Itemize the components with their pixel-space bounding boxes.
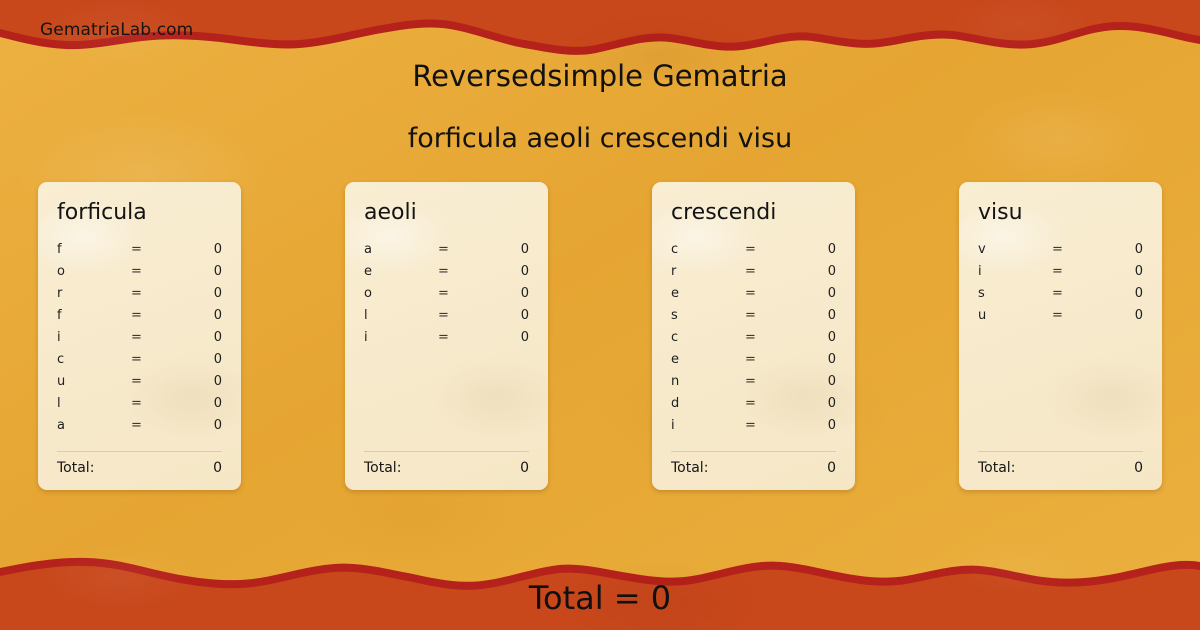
equals-sign: = bbox=[131, 286, 175, 301]
equals-sign: = bbox=[131, 308, 175, 323]
letter-char: c bbox=[671, 330, 745, 345]
equals-sign: = bbox=[745, 418, 789, 433]
letter-row: i = 0 bbox=[364, 330, 529, 352]
letter-char: d bbox=[671, 396, 745, 411]
letter-row: r = 0 bbox=[57, 286, 222, 308]
letter-row: o = 0 bbox=[364, 286, 529, 308]
letter-char: n bbox=[671, 374, 745, 389]
card-total-row: Total: 0 bbox=[978, 460, 1143, 476]
word-card: forficula f = 0 o = 0 r = 0 f bbox=[38, 182, 241, 490]
letter-value: 0 bbox=[789, 396, 836, 411]
equals-sign: = bbox=[438, 330, 482, 345]
card-total-value: 0 bbox=[520, 460, 529, 476]
letter-char: e bbox=[671, 352, 745, 367]
letter-char: e bbox=[364, 264, 438, 279]
letter-char: i bbox=[364, 330, 438, 345]
letter-value: 0 bbox=[175, 308, 222, 323]
equals-sign: = bbox=[745, 308, 789, 323]
equals-sign: = bbox=[745, 242, 789, 257]
letter-char: c bbox=[671, 242, 745, 257]
word-card-title: visu bbox=[978, 200, 1143, 225]
letter-value: 0 bbox=[175, 330, 222, 345]
equals-sign: = bbox=[438, 264, 482, 279]
letter-value: 0 bbox=[1096, 242, 1143, 257]
card-total-label: Total: bbox=[978, 460, 1015, 476]
word-card-title: crescendi bbox=[671, 200, 836, 225]
card-total-value: 0 bbox=[827, 460, 836, 476]
letter-row: u = 0 bbox=[57, 374, 222, 396]
letter-row: l = 0 bbox=[57, 396, 222, 418]
letter-row: a = 0 bbox=[364, 242, 529, 264]
equals-sign: = bbox=[1052, 264, 1096, 279]
letter-row: c = 0 bbox=[57, 352, 222, 374]
equals-sign: = bbox=[131, 374, 175, 389]
letter-row: i = 0 bbox=[978, 264, 1143, 286]
letter-row: s = 0 bbox=[978, 286, 1143, 308]
equals-sign: = bbox=[1052, 308, 1096, 323]
word-card-title: aeoli bbox=[364, 200, 529, 225]
card-divider bbox=[671, 451, 836, 452]
letter-char: f bbox=[57, 308, 131, 323]
letter-value-list: v = 0 i = 0 s = 0 u = 0 bbox=[978, 242, 1143, 451]
letter-row: c = 0 bbox=[671, 242, 836, 264]
card-total-label: Total: bbox=[57, 460, 94, 476]
letter-char: f bbox=[57, 242, 131, 257]
letter-value: 0 bbox=[482, 286, 529, 301]
site-brand[interactable]: GematriaLab.com bbox=[40, 20, 193, 40]
letter-row: f = 0 bbox=[57, 242, 222, 264]
letter-char: r bbox=[57, 286, 131, 301]
equals-sign: = bbox=[1052, 242, 1096, 257]
letter-value: 0 bbox=[175, 352, 222, 367]
letter-char: i bbox=[671, 418, 745, 433]
letter-char: s bbox=[978, 286, 1052, 301]
letter-value: 0 bbox=[482, 264, 529, 279]
letter-row: u = 0 bbox=[978, 308, 1143, 330]
equals-sign: = bbox=[745, 264, 789, 279]
equals-sign: = bbox=[438, 242, 482, 257]
card-total-label: Total: bbox=[364, 460, 401, 476]
letter-row: f = 0 bbox=[57, 308, 222, 330]
letter-value: 0 bbox=[1096, 286, 1143, 301]
letter-value: 0 bbox=[175, 242, 222, 257]
word-card: visu v = 0 i = 0 s = 0 u bbox=[959, 182, 1162, 490]
letter-value: 0 bbox=[482, 242, 529, 257]
page-title: Reversedsimple Gematria bbox=[0, 59, 1200, 93]
card-total-row: Total: 0 bbox=[57, 460, 222, 476]
letter-value: 0 bbox=[789, 374, 836, 389]
equals-sign: = bbox=[131, 418, 175, 433]
letter-row: d = 0 bbox=[671, 396, 836, 418]
letter-row: e = 0 bbox=[671, 352, 836, 374]
equals-sign: = bbox=[131, 264, 175, 279]
equals-sign: = bbox=[131, 242, 175, 257]
equals-sign: = bbox=[745, 374, 789, 389]
letter-char: l bbox=[57, 396, 131, 411]
card-total-row: Total: 0 bbox=[671, 460, 836, 476]
word-cards-row: forficula f = 0 o = 0 r = 0 f bbox=[38, 182, 1162, 490]
letter-value: 0 bbox=[175, 286, 222, 301]
letter-value-list: a = 0 e = 0 o = 0 l = 0 bbox=[364, 242, 529, 451]
card-total-label: Total: bbox=[671, 460, 708, 476]
letter-value: 0 bbox=[175, 264, 222, 279]
letter-row: r = 0 bbox=[671, 264, 836, 286]
equals-sign: = bbox=[745, 286, 789, 301]
card-divider bbox=[57, 451, 222, 452]
card-total-row: Total: 0 bbox=[364, 460, 529, 476]
equals-sign: = bbox=[131, 330, 175, 345]
word-card: aeoli a = 0 e = 0 o = 0 l bbox=[345, 182, 548, 490]
equals-sign: = bbox=[745, 352, 789, 367]
letter-row: s = 0 bbox=[671, 308, 836, 330]
letter-value: 0 bbox=[1096, 264, 1143, 279]
letter-char: u bbox=[978, 308, 1052, 323]
letter-value-list: c = 0 r = 0 e = 0 s = 0 bbox=[671, 242, 836, 451]
letter-row: o = 0 bbox=[57, 264, 222, 286]
letter-row: i = 0 bbox=[671, 418, 836, 440]
letter-char: i bbox=[978, 264, 1052, 279]
equals-sign: = bbox=[438, 308, 482, 323]
equals-sign: = bbox=[131, 352, 175, 367]
letter-char: i bbox=[57, 330, 131, 345]
equals-sign: = bbox=[438, 286, 482, 301]
grand-total: Total = 0 bbox=[0, 579, 1200, 617]
letter-value: 0 bbox=[789, 264, 836, 279]
letter-value: 0 bbox=[175, 418, 222, 433]
letter-value: 0 bbox=[482, 330, 529, 345]
letter-value: 0 bbox=[482, 308, 529, 323]
letter-char: u bbox=[57, 374, 131, 389]
equals-sign: = bbox=[745, 396, 789, 411]
letter-char: o bbox=[364, 286, 438, 301]
letter-value: 0 bbox=[175, 374, 222, 389]
letter-row: n = 0 bbox=[671, 374, 836, 396]
letter-value: 0 bbox=[1096, 308, 1143, 323]
word-card: crescendi c = 0 r = 0 e = 0 s bbox=[652, 182, 855, 490]
letter-row: l = 0 bbox=[364, 308, 529, 330]
letter-row: a = 0 bbox=[57, 418, 222, 440]
letter-row: i = 0 bbox=[57, 330, 222, 352]
equals-sign: = bbox=[1052, 286, 1096, 301]
letter-value: 0 bbox=[789, 286, 836, 301]
card-total-value: 0 bbox=[213, 460, 222, 476]
letter-value: 0 bbox=[789, 418, 836, 433]
letter-value: 0 bbox=[175, 396, 222, 411]
letter-char: v bbox=[978, 242, 1052, 257]
letter-row: e = 0 bbox=[364, 264, 529, 286]
letter-char: l bbox=[364, 308, 438, 323]
letter-value-list: f = 0 o = 0 r = 0 f = 0 bbox=[57, 242, 222, 451]
letter-row: v = 0 bbox=[978, 242, 1143, 264]
letter-char: e bbox=[671, 286, 745, 301]
letter-value: 0 bbox=[789, 242, 836, 257]
card-total-value: 0 bbox=[1134, 460, 1143, 476]
letter-char: c bbox=[57, 352, 131, 367]
letter-value: 0 bbox=[789, 352, 836, 367]
letter-value: 0 bbox=[789, 308, 836, 323]
letter-char: a bbox=[364, 242, 438, 257]
letter-char: s bbox=[671, 308, 745, 323]
equals-sign: = bbox=[131, 396, 175, 411]
word-card-title: forficula bbox=[57, 200, 222, 225]
page-canvas: GematriaLab.com Reversedsimple Gematria … bbox=[0, 0, 1200, 630]
letter-char: a bbox=[57, 418, 131, 433]
page-subtitle: forficula aeoli crescendi visu bbox=[0, 123, 1200, 154]
card-divider bbox=[364, 451, 529, 452]
card-divider bbox=[978, 451, 1143, 452]
letter-row: e = 0 bbox=[671, 286, 836, 308]
letter-value: 0 bbox=[789, 330, 836, 345]
letter-char: r bbox=[671, 264, 745, 279]
letter-char: o bbox=[57, 264, 131, 279]
letter-row: c = 0 bbox=[671, 330, 836, 352]
equals-sign: = bbox=[745, 330, 789, 345]
